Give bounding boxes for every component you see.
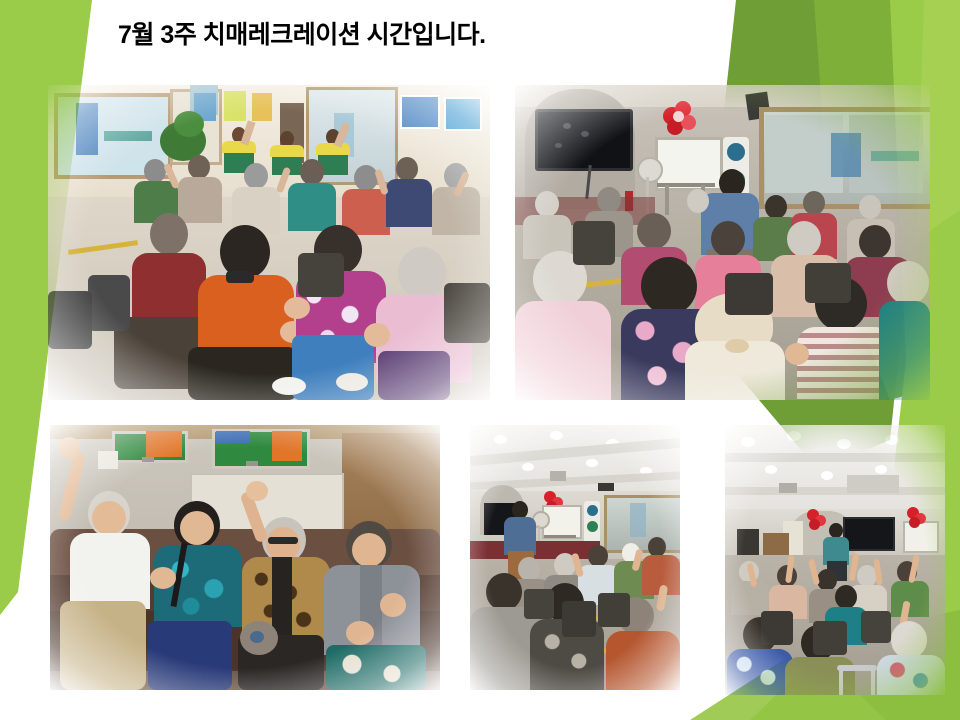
photo-wide-hall-raised-hands — [725, 425, 945, 695]
photo-instructor-standing-hall — [470, 425, 680, 690]
photo-four-seniors-sofa — [50, 425, 440, 690]
slide-canvas: 7월 3주 치매레크레이션 시간입니다. — [0, 0, 960, 720]
photo-classroom-tv-whiteboard — [515, 85, 930, 400]
photo-seniors-exercise-hall — [48, 85, 490, 400]
page-title: 7월 3주 치매레크레이션 시간입니다. — [118, 22, 486, 50]
